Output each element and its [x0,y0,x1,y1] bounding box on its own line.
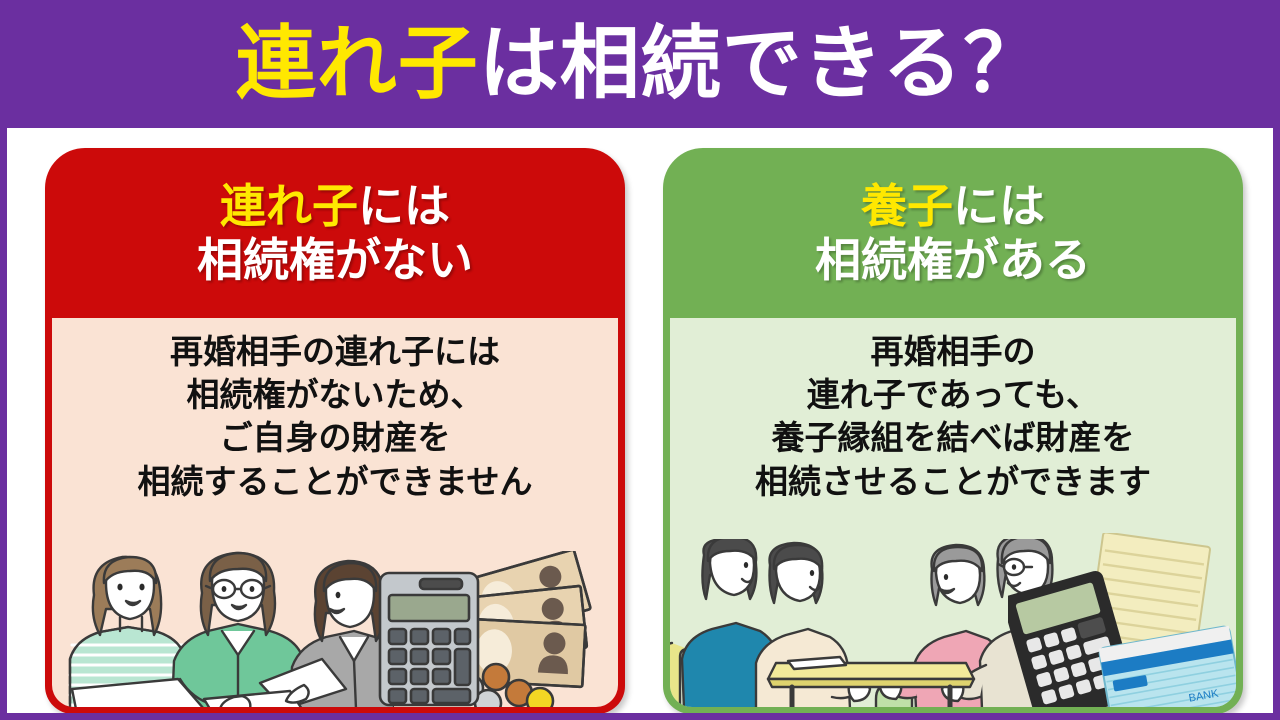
title-banner: 連れ子は相続できる？ [0,0,1280,128]
page-title-highlight: 連れ子 [236,17,479,110]
card-right-header: 養子には 相続権がある [663,148,1243,318]
card-left-body-line-2: 相続権がないため、 [52,373,618,416]
card-left-heading-highlight: 連れ子 [220,179,358,233]
card-right-body: 再婚相手の 連れ子であっても、 養子縁組を結べば財産を 相続させることができます [670,318,1236,707]
card-right-body-line-1: 再婚相手の [670,330,1236,373]
card-left-heading-line1: 連れ子には [220,179,450,233]
card-right-heading-line2: 相続権がある [815,233,1091,287]
card-left-body-text: 再婚相手の連れ子には 相続権がないため、 ご自身の財産を 相続することができませ… [52,318,618,503]
card-left-body-line-4: 相続することができません [52,460,618,503]
card-left-header: 連れ子には 相続権がない [45,148,625,318]
infographic-page: 連れ子は相続できる？ 連れ子には 相続権がない 再婚相手の連れ子には 相続権がな… [0,0,1280,720]
two-couples-at-table-illustration [670,539,1064,707]
card-right-heading-highlight: 養子 [861,179,953,233]
card-right-heading-line1: 養子には [861,179,1045,233]
comparison-cards: 連れ子には 相続権がない 再婚相手の連れ子には 相続権がないため、 ご自身の財産… [45,148,1243,714]
bank-card-label: BANK [1188,688,1220,705]
card-left-heading-line2: 相続権がない [197,233,473,287]
three-people-consulting-illustration [54,539,394,707]
card-has-inheritance: 養子には 相続権がある 再婚相手の 連れ子であっても、 養子縁組を結べば財産を … [663,148,1243,714]
card-right-body-line-3: 養子縁組を結べば財産を [670,416,1236,459]
page-title: 連れ子は相続できる？ [236,24,1044,104]
card-no-inheritance: 連れ子には 相続権がない 再婚相手の連れ子には 相続権がないため、 ご自身の財産… [45,148,625,714]
calculator-notepad-bankcard-illustration: BANK [1008,533,1236,707]
card-right-heading-rest: には [953,179,1045,233]
card-left-body: 再婚相手の連れ子には 相続権がないため、 ご自身の財産を 相続することができませ… [52,318,618,707]
card-right-body-line-4: 相続させることができます [670,460,1236,503]
card-right-body-text: 再婚相手の 連れ子であっても、 養子縁組を結べば財産を 相続させることができます [670,318,1236,503]
page-title-rest: は相続できる？ [479,17,1044,110]
card-left-heading-rest: には [358,179,450,233]
card-right-body-line-2: 連れ子であっても、 [670,373,1236,416]
card-left-body-line-1: 再婚相手の連れ子には [52,330,618,373]
calculator-banknotes-coins-illustration [374,551,614,707]
card-left-body-line-3: ご自身の財産を [52,416,618,459]
